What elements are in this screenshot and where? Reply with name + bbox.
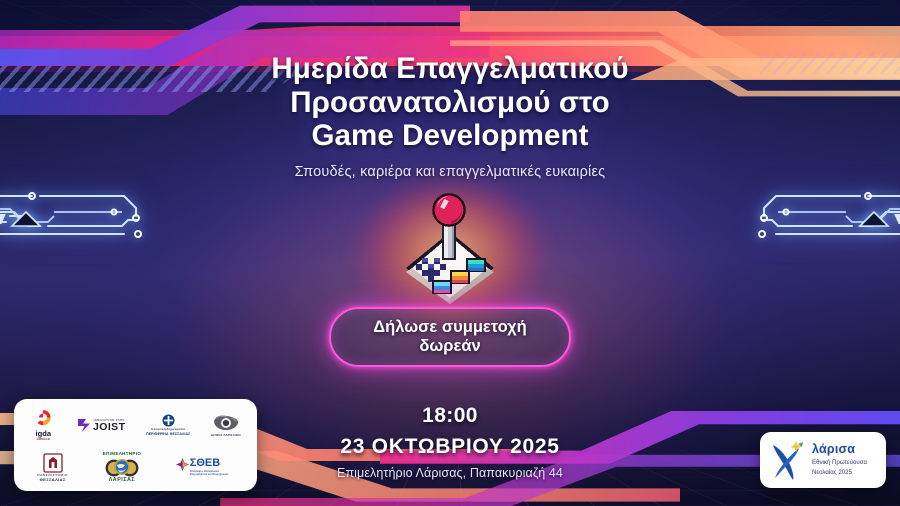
joist-logo-icon: [77, 418, 91, 433]
larissa-badge-sub-1: Εθνική Πρωτεύουσα: [812, 459, 867, 467]
title-line-2: Προσανατολισμού στο: [0, 86, 900, 120]
sponsor-epimelitirio-larisas[interactable]: ΕΠΙΜΕΛΗΤΗΡΙΟ ΛΑΡΙΣΑΣ: [103, 451, 142, 483]
cta-line-2: δωρεάν: [419, 337, 480, 355]
sponsor-epimelitirio-sub: ΛΑΡΙΣΑΣ: [109, 477, 135, 484]
sponsor-igda-sub: GREECE: [37, 438, 51, 442]
circuit-trace-right: [704, 182, 900, 282]
title-line-3: Game Development: [0, 119, 900, 153]
circuit-trace-left: [0, 182, 196, 282]
larissa-badge-name: λάρισα: [812, 442, 867, 457]
sponsor-logo-panel: igda GREECE INNOVATION PARK JOIST Ελ: [14, 399, 257, 491]
headline-block: Ημερίδα Επαγγελματικού Προσανατολισμού σ…: [0, 52, 900, 180]
dimos-larisaion-logo-icon: [212, 414, 240, 433]
joystick-artwork: [365, 192, 535, 320]
sponsor-sthev[interactable]: ΣΘΕΒ Σύνδεσμος Θεσσαλικών Επιχειρήσεων κ…: [176, 458, 234, 476]
poster-root: Ημερίδα Επαγγελματικού Προσανατολισμού σ…: [0, 0, 900, 506]
larissa-badge-sub-2: Νεολαίας 2025: [812, 469, 867, 477]
sponsor-joist-label: JOIST: [93, 422, 125, 433]
larissa-logo-icon: [769, 439, 807, 481]
perspective-grid-top: [0, 0, 900, 50]
sthev-star-icon: [176, 458, 189, 473]
greek-republic-emblem-icon: [162, 414, 175, 427]
larissa-youth-capital-badge: λάρισα Εθνική Πρωτεύουσα Νεολαίας 2025: [760, 432, 886, 488]
sponsor-igda-greece[interactable]: igda GREECE: [30, 409, 56, 441]
decor-band-top-thin: [0, 14, 900, 19]
title-line-1: Ημερίδα Επαγγελματικού: [0, 52, 900, 86]
sponsor-sthev-label: ΣΘΕΒ: [190, 458, 220, 469]
sponsor-periferia-label: ΠΕΡΙΦΕΡΕΙΑ ΘΕΣΣΑΛΙΑΣ: [146, 432, 190, 436]
igda-logo-icon: [30, 409, 56, 429]
register-cta-label: Δήλωσε συμμετοχή δωρεάν: [373, 318, 526, 356]
university-thessaly-crest-icon: [43, 453, 63, 473]
larissa-badge-text: λάρισα Εθνική Πρωτεύουσα Νεολαίας 2025: [812, 442, 867, 477]
cta-line-1: Δήλωσε συμμετοχή: [373, 318, 526, 336]
sponsor-row-1: igda GREECE INNOVATION PARK JOIST Ελ: [20, 403, 251, 448]
sponsor-joist[interactable]: INNOVATION PARK JOIST: [77, 418, 125, 433]
sponsor-dimos-larisaion[interactable]: ΔΗΜΟΣ ΛΑΡΙΣΑΙΩΝ: [211, 414, 241, 438]
subtitle: Σπουδές, καριέρα και επαγγελματικές ευκα…: [0, 164, 900, 180]
sponsor-sthev-sub: Σύνδεσμος Θεσσαλικών Επιχειρήσεων και Βι…: [190, 470, 234, 476]
sponsor-uth-sub: ΘΕΣΣΑΛΙΑΣ: [40, 477, 66, 482]
decor-band-top-accent: [0, 26, 900, 36]
register-cta-button[interactable]: Δήλωσε συμμετοχή δωρεάν: [329, 307, 571, 367]
sponsor-dimos-label: ΔΗΜΟΣ ΛΑΡΙΣΑΙΩΝ: [211, 434, 241, 438]
chamber-of-commerce-gear-icon: [104, 457, 140, 478]
sponsor-panepistimio-thessalias[interactable]: ΠΑΝΕΠΙΣΤΗΜΙΟ ΘΕΣΣΑΛΙΑΣ: [37, 453, 68, 483]
joystick-icon: [390, 192, 510, 318]
sponsor-periferia-thessalias[interactable]: Ελληνική Δημοκρατία ΠΕΡΙΦΕΡΕΙΑ ΘΕΣΣΑΛΙΑΣ: [146, 414, 190, 436]
sponsor-row-2: ΠΑΝΕΠΙΣΤΗΜΙΟ ΘΕΣΣΑΛΙΑΣ ΕΠΙΜΕΛΗΤΗΡΙΟ: [20, 448, 251, 487]
